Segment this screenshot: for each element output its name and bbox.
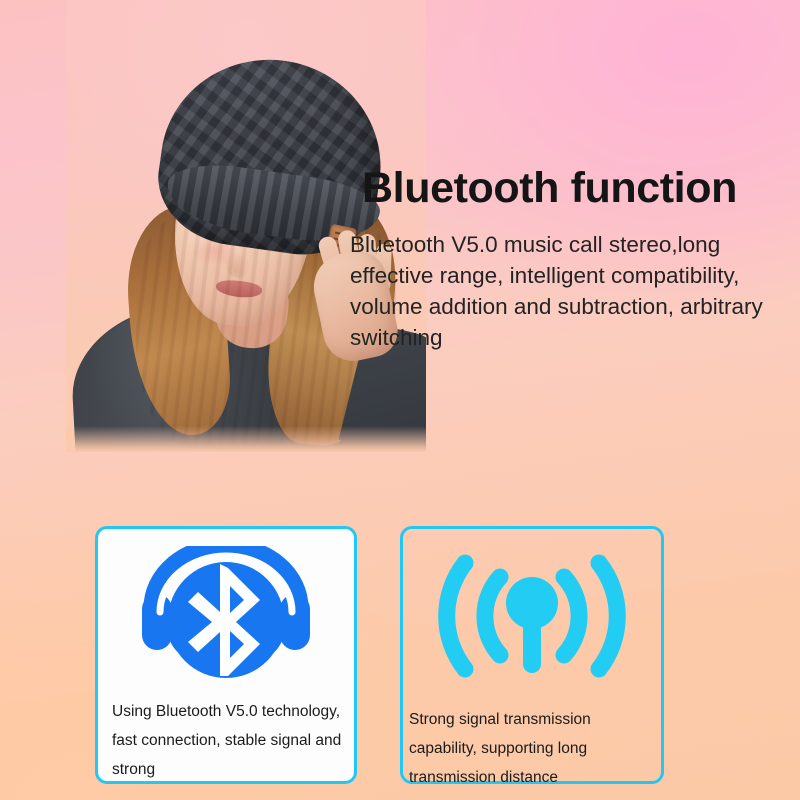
feature-card-signal-text: Strong signal transmission capability, s… [409,705,657,792]
product-feature-banner: Bluetooth function Bluetooth V5.0 music … [0,0,800,800]
photo-bottom-fade [66,426,426,452]
signal-antenna-icon [403,543,661,683]
feature-card-bluetooth-text: Using Bluetooth V5.0 technology, fast co… [112,697,344,784]
feature-card-bluetooth[interactable]: Using Bluetooth V5.0 technology, fast co… [95,526,357,784]
feature-card-signal[interactable]: Strong signal transmission capability, s… [400,526,664,784]
page-title: Bluetooth function [362,164,795,213]
bluetooth-headphone-icon [98,543,354,683]
hero-copy-block: Bluetooth function Bluetooth V5.0 music … [350,164,795,353]
hero-description: Bluetooth V5.0 music call stereo,long ef… [350,229,770,353]
